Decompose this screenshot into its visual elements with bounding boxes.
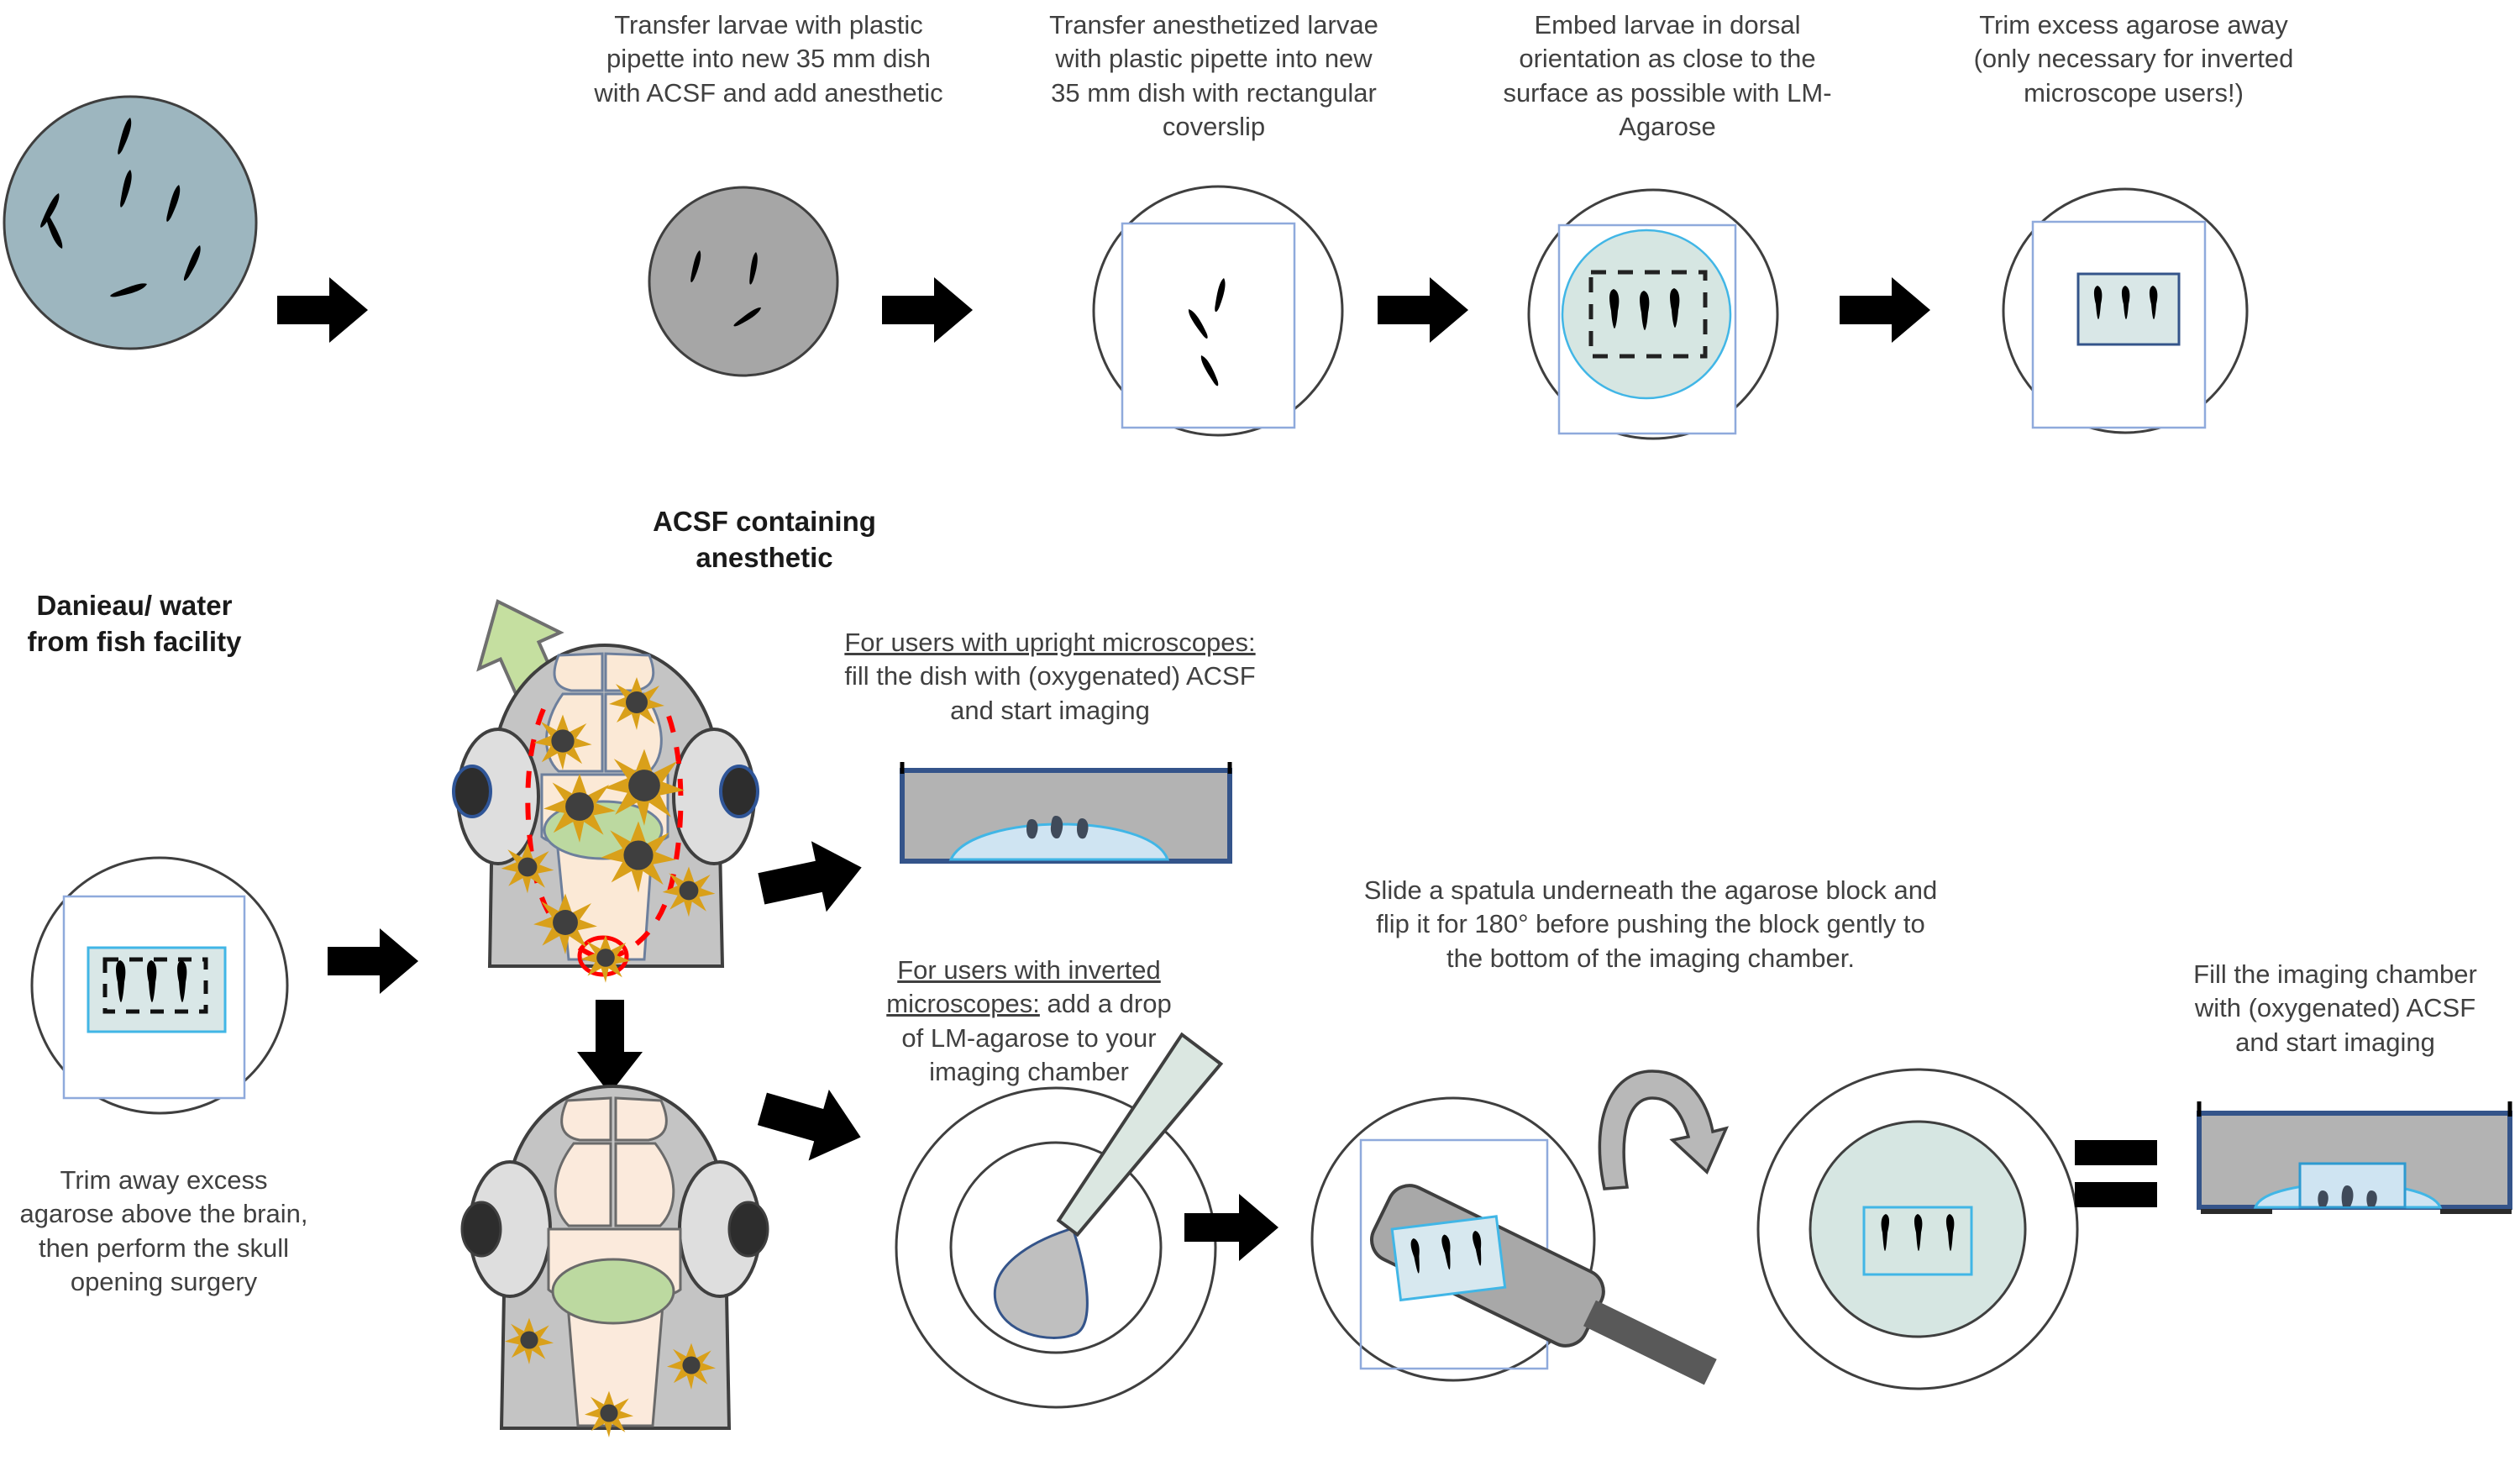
right-arrow-icon <box>882 277 974 343</box>
right-arrow-icon <box>277 277 370 343</box>
rotate-180-arrow-icon <box>1599 1071 1726 1189</box>
dish-acsf-anesthetic <box>647 185 848 386</box>
upright-heading: For users with upright microscopes: <box>756 626 1344 660</box>
rectangular-coverslip <box>1122 223 1294 428</box>
label-danieau-water: Danieau/ water from fish facility <box>0 588 269 660</box>
caption-spatula-flip: Slide a spatula underneath the agarose b… <box>1302 874 1999 975</box>
dish-with-coverslip <box>1068 183 1368 444</box>
dish-trimmed-block <box>1982 187 2268 439</box>
agarose-block-trimmed <box>2078 274 2179 344</box>
right-arrow-icon <box>1184 1193 1281 1262</box>
caption-transfer-to-coverslip-dish: Transfer anesthetized larvae with plasti… <box>1016 8 1411 144</box>
equals-sign-icon <box>2075 1138 2163 1218</box>
dish-danieau-water <box>0 92 269 353</box>
right-arrow-icon <box>760 840 865 916</box>
right-arrow-icon <box>1840 277 1932 343</box>
right-arrow-icon <box>1378 277 1470 343</box>
zebrafish-head-dorsal-exposed-brain <box>441 1080 802 1432</box>
caption-embed-dorsal: Embed larvae in dorsal orientation as cl… <box>1478 8 1856 144</box>
imaging-chamber-side-view-final <box>2184 1096 2520 1239</box>
caption-transfer-to-acsf: Transfer larvae with plastic pipette int… <box>571 8 966 110</box>
pupil-right <box>721 766 758 817</box>
caption-fill-chamber: Fill the imaging chamber with (oxygenate… <box>2159 958 2512 1059</box>
pupil-left <box>462 1202 501 1256</box>
zebrafish-head-dorsal-surgery <box>424 639 802 1033</box>
imaging-chamber-add-agarose-drop <box>878 958 1298 1403</box>
protocol-diagram: Danieau/ water from fish facility Transf… <box>0 0 2520 1461</box>
pupil-left <box>454 766 491 817</box>
caption-trim-then-surgery: Trim away excess agarose above the brain… <box>0 1164 328 1299</box>
label-acsf-anesthetic: ACSF containing anesthetic <box>588 504 941 576</box>
right-arrow-icon <box>760 1084 865 1164</box>
dish-embedded-agarose <box>1504 187 1803 447</box>
right-arrow-icon <box>328 928 420 994</box>
cerebellum-region <box>553 1259 674 1323</box>
caption-trim-excess-agarose: Trim excess agarose away (only necessary… <box>1949 8 2318 110</box>
imaging-dish-side-view-upright <box>890 760 1243 870</box>
dish-trim-above-brain <box>15 853 309 1130</box>
imaging-chamber-block-placed <box>1751 1063 2104 1407</box>
pupil-right <box>729 1202 768 1256</box>
spatula-lifting-agarose-block <box>1306 1071 1777 1424</box>
caption-upright-microscopes: For users with upright microscopes: fill… <box>756 626 1344 728</box>
